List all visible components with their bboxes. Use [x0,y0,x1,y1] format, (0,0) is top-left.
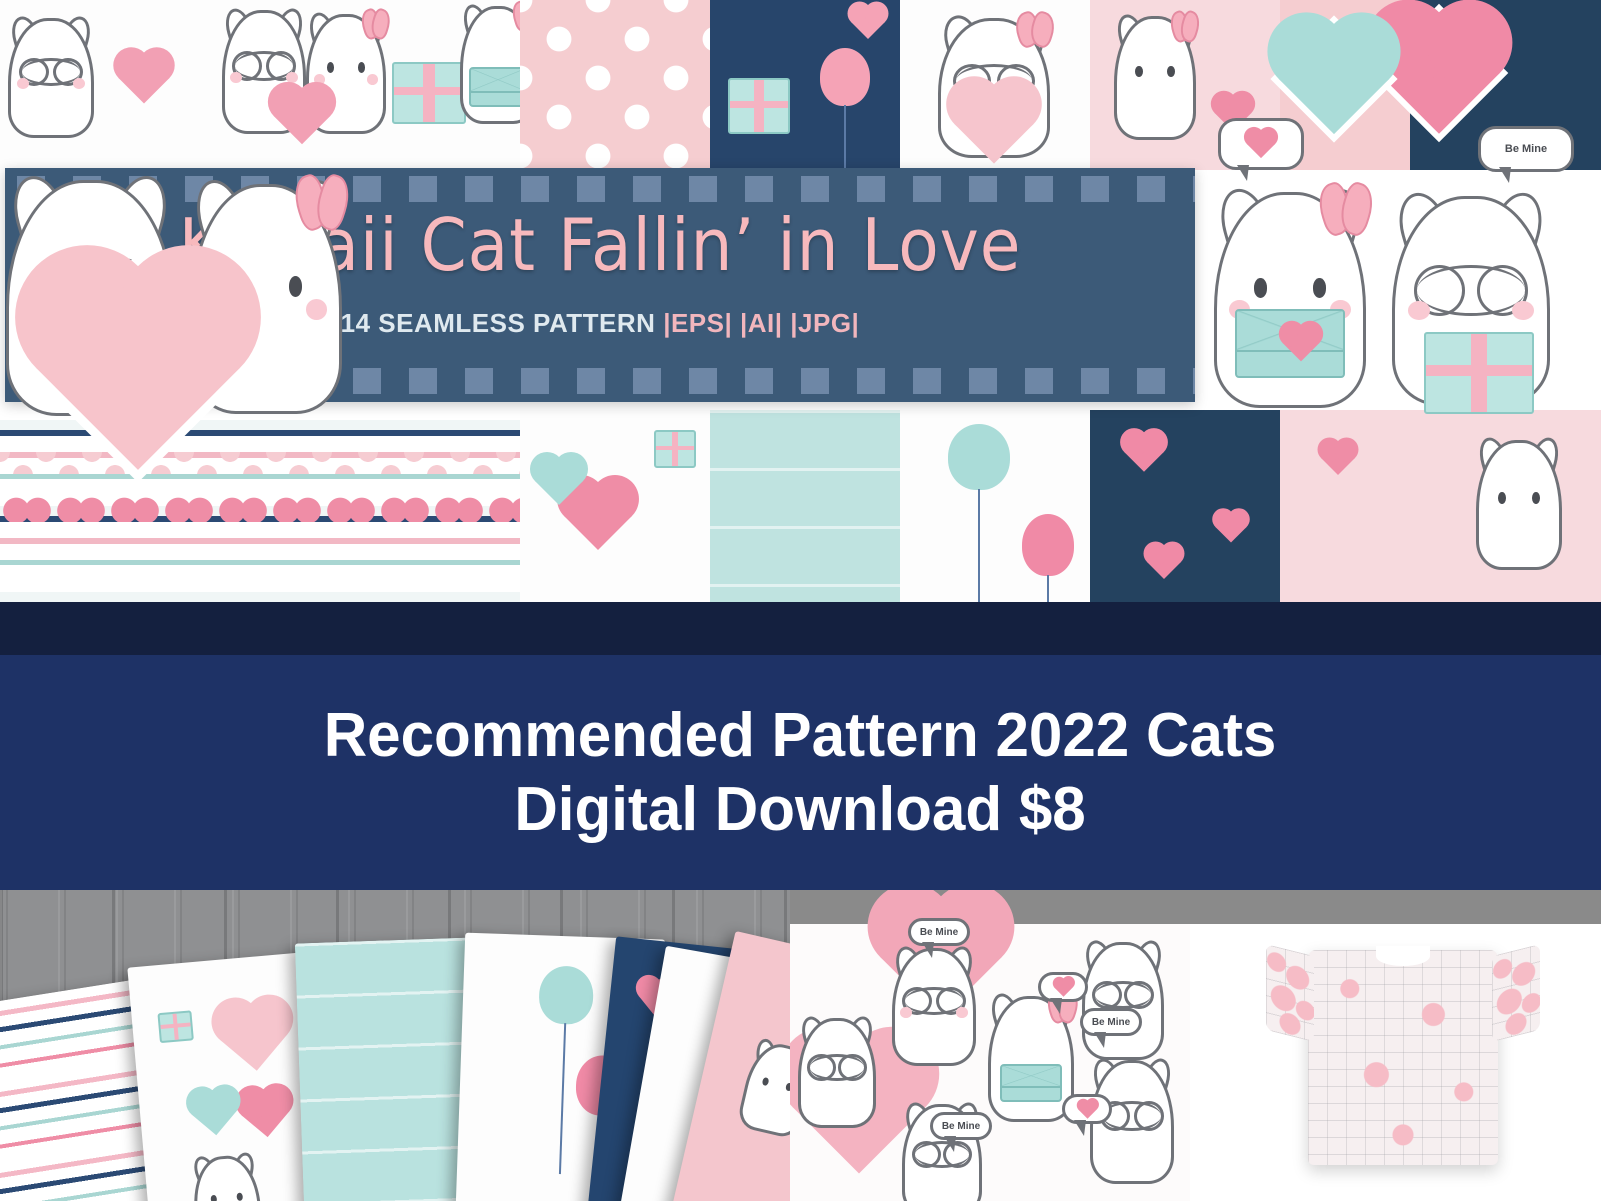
cat-icon [8,18,94,138]
grey-overlay-bar [1190,890,1601,924]
heart-icon [1054,978,1072,996]
heart-icon [1078,1100,1096,1118]
tile-cats-glasses-hearts [0,0,210,170]
balloon-icon [948,424,1010,490]
envelope-icon [1000,1064,1062,1102]
cat-icon [1476,440,1562,570]
gift-icon [392,62,466,124]
speech-bubble-be-mine: Be Mine [1080,1008,1142,1036]
tshirt-sleeve-left [1266,944,1314,1042]
pattern-collage-top: Be Mine [0,0,1601,602]
bow-icon [296,175,348,226]
cat-icon [988,996,1074,1122]
speech-bubble-be-mine: Be Mine [1478,126,1574,172]
cat-icon [1214,192,1366,408]
heart-icon [1147,545,1181,579]
banner-pattern-count: 14 SEAMLESS PATTERN [341,308,656,338]
heart-icon [1215,511,1246,542]
speech-bubble-icon [1218,118,1304,170]
banner-file-formats: |EPS| |AI| |JPG| [663,308,859,338]
cat-icon [1114,16,1196,140]
be-mine-label: Be Mine [1092,1017,1130,1028]
glasses-icon [810,1054,863,1080]
headline-line-1: Recommended Pattern 2022 Cats [324,699,1277,772]
glasses-icon [1095,981,1151,1009]
product-promo-image: Be Mine [0,0,1601,1201]
cat-cheek-left [17,78,29,89]
heart-icon [1321,441,1355,475]
balloon-icon [538,965,594,1025]
headline-band: Recommended Pattern 2022 Cats Digital Do… [0,655,1601,890]
glasses-icon [1103,1101,1160,1131]
heart-icon [564,482,632,550]
speech-bubble-heart [1062,1094,1112,1124]
heart-icon [1124,432,1164,472]
tile-cat-holding-heart [900,0,1090,170]
headline-line-2: Digital Download $8 [324,773,1277,846]
cat-icon [892,948,976,1066]
tile-pink-cats-sprigs [1280,410,1601,602]
tile-mint-wave-dots [710,410,900,602]
heart-icon [192,1090,237,1135]
gift-icon [157,1010,193,1043]
page-title: Recommended Pattern 2022 Cats Digital Do… [324,699,1277,845]
gift-icon [728,78,790,134]
glasses-icon [235,51,292,81]
heart-icon [274,88,331,145]
balloon-icon [820,48,870,106]
balloon-icon [1022,514,1074,576]
speech-bubble-be-mine: Be Mine [908,918,970,946]
tshirt-neckline [1376,946,1430,966]
tshirt-mockup-panel [1190,890,1601,1201]
heart-icon [242,1089,290,1137]
bow-icon [1320,183,1372,231]
glasses-icon [22,58,80,87]
cat-icon [798,1018,876,1128]
tile-heart-stripe-border [0,410,520,602]
tile-balloon-hearts-white [520,410,710,602]
heart-icon [851,5,885,39]
dot-row-band [0,452,520,474]
be-mine-label: Be Mine [942,1121,980,1132]
tile-pink-polka-dots [520,0,710,170]
bow-icon [1171,11,1199,38]
bottom-mockup-section: Be Mine Be Mine Be Mine [0,890,1601,1201]
be-mine-label: Be Mine [920,927,958,938]
gift-icon [654,430,696,468]
heart-row-band [0,488,520,522]
tshirt-sleeve-right [1492,944,1540,1042]
tile-navy-scattered-hearts [1090,410,1280,602]
bow-icon [362,9,389,35]
tile-cats-gifts-bows [210,0,520,170]
speech-bubble-heart [1038,972,1088,1002]
glasses-icon [905,987,962,1015]
heart-icon [119,53,170,104]
glasses-icon [1417,265,1524,315]
tile-navy-gift-balloons [710,0,900,170]
cat-icon [190,1153,264,1201]
gift-icon [1424,332,1534,414]
heart-icon [220,1003,288,1071]
dark-navy-strip [0,602,1601,655]
glasses-icon [915,1141,969,1168]
bow-icon [1016,12,1054,43]
cat-icon [460,6,520,124]
be-mine-label: Be Mine [1505,143,1547,155]
tile-mint-balloon-white [900,410,1090,602]
cat-pattern-panel: Be Mine Be Mine Be Mine [790,890,1190,1201]
film-perforations-top [5,176,1195,202]
tshirt-icon [1308,950,1498,1165]
bow-icon [513,1,520,27]
heart-icon [1247,130,1275,158]
envelope-icon [469,67,520,107]
speech-bubble-be-mine: Be Mine [930,1112,992,1140]
